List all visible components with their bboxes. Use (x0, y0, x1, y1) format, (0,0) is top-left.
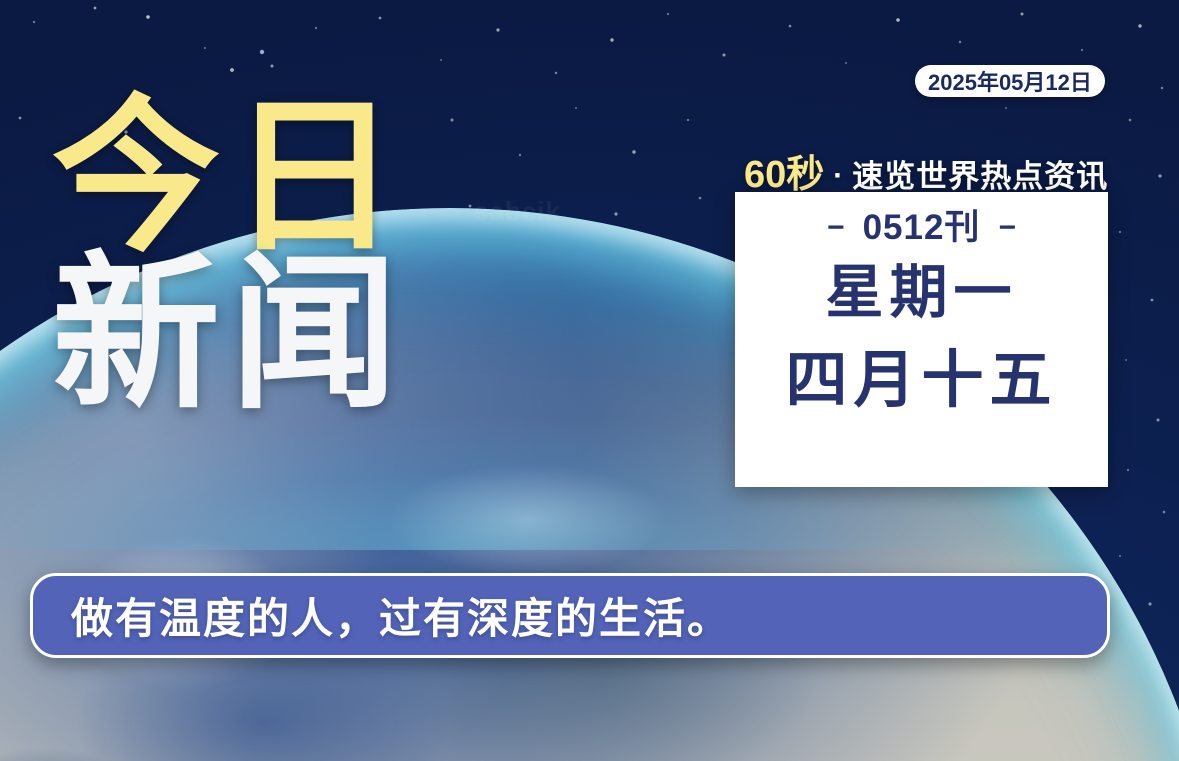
news-poster: sabcik 今日 新闻 2025年05月12日 60秒 · 速览世界热点资讯 … (0, 0, 1179, 761)
issue-number: 0512刊 (863, 210, 981, 245)
date-badge: 2025年05月12日 (915, 65, 1105, 97)
issue-dash-right: − (998, 213, 1016, 243)
tagline-duration: 60秒 (744, 143, 824, 198)
slogan-bar: 做有温度的人，过有深度的生活。 (30, 573, 1110, 658)
tagline-separator-dot: · (833, 159, 843, 193)
title-line-today: 今日 (52, 96, 522, 259)
issue-dash-left: − (827, 213, 845, 243)
tagline: 60秒 · 速览世界热点资讯 (744, 143, 1108, 198)
title-line-news: 新闻 (52, 253, 522, 416)
issue-row: − 0512刊 − (827, 210, 1016, 245)
page-title: 今日 新闻 (52, 96, 522, 416)
weekday-label: 星期一 (825, 263, 1017, 324)
date-info-card: − 0512刊 − 星期一 四月十五 (735, 192, 1108, 487)
tagline-description: 速览世界热点资讯 (852, 151, 1108, 196)
lunar-date-label: 四月十五 (785, 348, 1057, 413)
slogan-text: 做有温度的人，过有深度的生活。 (71, 585, 731, 646)
